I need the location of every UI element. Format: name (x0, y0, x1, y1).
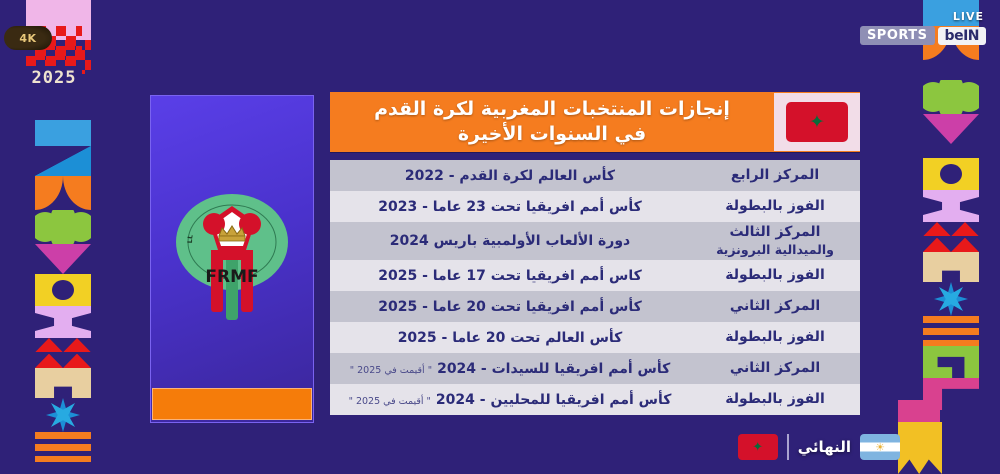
page-title-line2: في السنوات الأخيرة (340, 122, 764, 147)
table-cell-event-text: كاس أمم افريقيا تحت 17 عاما - 2025 (378, 268, 641, 284)
pattern-motif-gate (35, 368, 91, 398)
table-cell-result: المركز الثاني (690, 298, 860, 315)
federation-logo-panel: FRMF FEDERATION ROYALE MAROCAINE DE FOOT… (150, 95, 314, 423)
table-cell-event-text: كأس أمم افريقيا للمحليين - 2024 (436, 392, 671, 408)
pattern-motif-hourglass (35, 306, 91, 338)
logo-panel-accent-bar (152, 388, 312, 420)
match-stage-label: النهائي (798, 438, 851, 456)
table-row: المركز الرابعكأس العالم لكرة القدم - 202… (330, 160, 860, 191)
pattern-motif-double-triangle (35, 338, 91, 368)
pentagram-star-icon: ✦ (808, 113, 826, 131)
table-row: الفوز بالبطولةكاس أمم افريقيا تحت 17 عام… (330, 260, 860, 291)
table-cell-event: كأس أمم افريقيا للسيدات - 2024" أقيمت في… (330, 361, 690, 377)
year-graphic-label: 2025 (26, 66, 82, 110)
table-row: المركز الثانيكأس أمم افريقيا تحت 20 عاما… (330, 291, 860, 322)
quality-4k-badge: 4K (4, 26, 52, 50)
table-row: المركز الثانيكأس أمم افريقيا للسيدات - 2… (330, 353, 860, 384)
bottom-accent-yellow (898, 422, 942, 474)
table-cell-event-text: كأس أمم افريقيا تحت 23 عاما - 2023 (378, 199, 641, 215)
sun-of-may-icon: ☀ (875, 442, 885, 453)
table-row: الفوز بالبطولةكأس أمم افريقيا تحت 23 عام… (330, 191, 860, 222)
pentagram-star-icon: ✦ (752, 441, 763, 454)
table-cell-event-text: كأس العالم تحت 20 عاما - 2025 (398, 330, 623, 346)
channel-logo: beIN SPORTS (860, 26, 986, 45)
table-cell-event: كأس أمم افريقيا للمحليين - 2024" أقيمت ف… (330, 392, 690, 408)
panel-header: ✦ إنجازات المنتخبات المغربية لكرة القدم … (330, 92, 860, 152)
table-row: الفوز بالبطولةكأس أمم افريقيا للمحليين -… (330, 384, 860, 415)
table-cell-event: كأس أمم افريقيا تحت 20 عاما - 2025 (330, 299, 690, 315)
pattern-motif-spacer (923, 144, 979, 158)
channel-logo-sports: SPORTS (860, 26, 935, 45)
pattern-motif-stair (35, 146, 91, 176)
pattern-motif-ring (35, 274, 91, 306)
pattern-motif-greek (923, 346, 979, 378)
header-flag-badge: ✦ (774, 93, 860, 151)
pattern-motif-bars (35, 432, 91, 462)
table-cell-result-sub: والميدالية البرونزية (696, 241, 854, 258)
table-cell-event-text: كأس أمم افريقيا تحت 20 عاما - 2025 (378, 299, 641, 315)
morocco-flag-icon: ✦ (786, 102, 848, 142)
pattern-motif-star (923, 282, 979, 316)
pattern-motif-triangle (923, 114, 979, 144)
table-cell-result: المركز الثالثوالميدالية البرونزية (690, 224, 860, 258)
page-title-line1: إنجازات المنتخبات المغربية لكرة القدم (340, 97, 764, 122)
live-badge: LIVE (953, 10, 984, 23)
argentina-flag-icon: ☀ (860, 434, 900, 460)
table-row: الفوز بالبطولةكأس العالم تحت 20 عاما - 2… (330, 322, 860, 353)
pattern-motif-bars (923, 316, 979, 346)
channel-logo-bein: beIN (938, 27, 986, 45)
table-cell-event-text: كأس أمم افريقيا للسيدات - 2024 (437, 361, 670, 377)
match-stage-bar: ☀ النهائي ✦ (738, 434, 900, 460)
table-cell-result: المركز الرابع (690, 167, 860, 184)
table-cell-event-note: " أقيمت في 2025 " (349, 396, 431, 407)
table-cell-event-note: " أقيمت في 2025 " (350, 365, 432, 376)
table-cell-event: كأس العالم لكرة القدم - 2022 (330, 168, 690, 184)
table-cell-event-text: دورة الألعاب الأولمبية باريس 2024 (390, 233, 631, 249)
pattern-motif-star (35, 398, 91, 432)
pattern-motif-double-triangle (923, 222, 979, 252)
tournament-year-graphic: 2025 (26, 0, 82, 110)
table-cell-result: الفوز بالبطولة (690, 198, 860, 215)
pattern-motif-bowtie (35, 176, 91, 210)
broadcast-screen: 2025 4K LIVE beIN SPORTS FRMF (0, 0, 1000, 474)
morocco-flag-icon: ✦ (738, 434, 778, 460)
svg-text:FRMF: FRMF (205, 267, 258, 287)
pattern-motif-flower (923, 80, 979, 114)
pattern-motif-spacer (923, 60, 979, 80)
table-cell-result: الفوز بالبطولة (690, 329, 860, 346)
divider (787, 434, 789, 460)
pattern-motif-flower (35, 210, 91, 244)
page-title: إنجازات المنتخبات المغربية لكرة القدم في… (330, 97, 774, 147)
table-row: المركز الثالثوالميدالية البرونزيةدورة ال… (330, 222, 860, 260)
table-cell-result: المركز الثاني (690, 360, 860, 377)
achievements-table: المركز الرابعكأس العالم لكرة القدم - 202… (330, 160, 860, 415)
pattern-motif-triangle (35, 244, 91, 274)
pattern-motif-gate (923, 252, 979, 282)
table-cell-event: كأس أمم افريقيا تحت 23 عاما - 2023 (330, 199, 690, 215)
table-cell-event-text: كأس العالم لكرة القدم - 2022 (405, 168, 615, 184)
table-cell-result: الفوز بالبطولة (690, 391, 860, 408)
table-cell-result: الفوز بالبطولة (690, 267, 860, 284)
table-cell-event: كأس العالم تحت 20 عاما - 2025 (330, 330, 690, 346)
pattern-motif-hourglass (923, 190, 979, 222)
year-graphic-top-block (26, 0, 82, 26)
table-cell-event: كاس أمم افريقيا تحت 17 عاما - 2025 (330, 268, 690, 284)
frmf-crest-icon: FRMF FEDERATION ROYALE MAROCAINE DE FOOT… (167, 184, 297, 334)
pattern-motif-ring (923, 158, 979, 190)
pattern-motif-blue-block (35, 120, 91, 146)
table-cell-event: دورة الألعاب الأولمبية باريس 2024 (330, 233, 690, 249)
